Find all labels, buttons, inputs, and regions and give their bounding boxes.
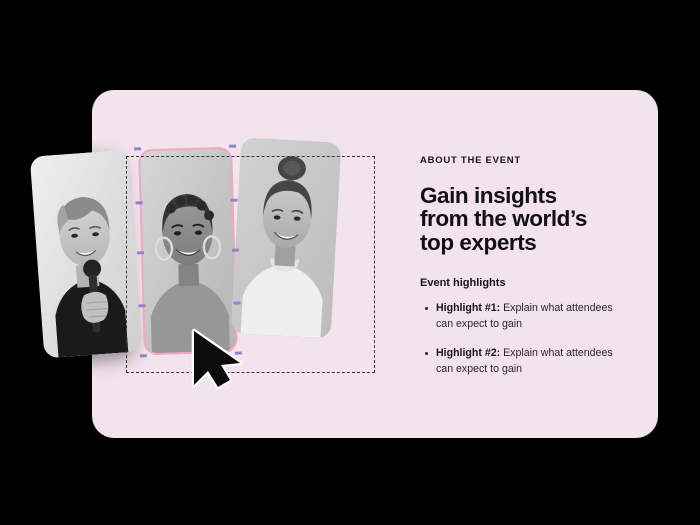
speaker-photo-card-2[interactable] [138, 147, 238, 356]
speaker-photo-1-image [30, 150, 143, 359]
list-item: Highlight #2: Explain what attendees can… [436, 346, 625, 377]
speaker-photo-card-3[interactable] [231, 137, 342, 338]
editor-canvas: ABOUT THE EVENT Gain insights from the w… [0, 0, 700, 525]
slide-text-column: ABOUT THE EVENT Gain insights from the w… [420, 156, 625, 391]
page-title: Gain insights from the world’s top exper… [420, 184, 600, 255]
highlight-label: Highlight #2: [436, 347, 500, 359]
highlights-subheading: Event highlights [420, 278, 625, 289]
speaker-photo-3-image [231, 137, 342, 338]
highlights-list: Highlight #1: Explain what attendees can… [420, 301, 625, 377]
eyebrow-label: ABOUT THE EVENT [420, 156, 625, 166]
highlight-label: Highlight #1: [436, 302, 500, 314]
speaker-photo-card-1[interactable] [30, 150, 143, 359]
arrow-cursor-icon [188, 327, 244, 389]
list-item: Highlight #1: Explain what attendees can… [436, 301, 625, 332]
speaker-photo-2-image [138, 147, 238, 356]
